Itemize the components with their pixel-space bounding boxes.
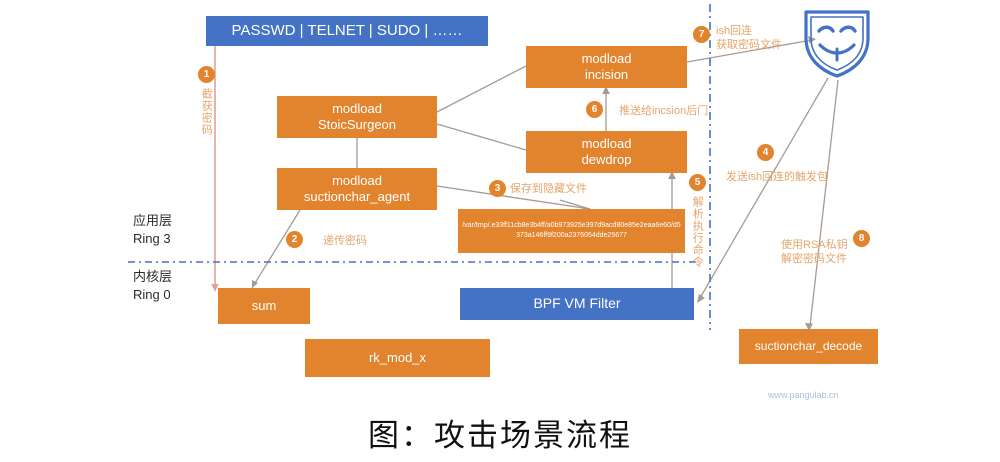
node-label: modload dewdrop: [526, 136, 687, 168]
node-hashfile: /var/tmp/.e33ff11cb8e3b4ff/a0b973925e397…: [458, 209, 685, 253]
node-label: modload StoicSurgeon: [277, 101, 437, 133]
step-marker-3: 3: [489, 180, 506, 197]
node-incision: modload incision: [526, 46, 687, 88]
node-label: PASSWD | TELNET | SUDO | ……: [206, 22, 488, 40]
layer-label-ring3: 应用层 Ring 3: [133, 212, 172, 247]
step-label-3: 保存到隐藏文件: [510, 182, 587, 196]
node-label: suctionchar_decode: [739, 339, 878, 354]
step-marker-5: 5: [689, 174, 706, 191]
step-label-1: 截获密码: [199, 88, 213, 136]
step-label-7: ish回连 获取密码文件: [716, 24, 782, 53]
node-rkmodx: rk_mod_x: [305, 339, 490, 377]
layer-label-ring0: 内核层 Ring 0: [133, 268, 172, 303]
node-label: BPF VM Filter: [460, 295, 694, 312]
node-passwd: PASSWD | TELNET | SUDO | ……: [206, 16, 488, 46]
node-label: sum: [218, 298, 310, 314]
node-label: modload suctionchar_agent: [277, 173, 437, 205]
step-label-6: 推送给incsion后门: [619, 104, 708, 118]
node-label: modload incision: [526, 51, 687, 83]
node-sum: sum: [218, 288, 310, 324]
node-label: /var/tmp/.e33ff11cb8e3b4ff/a0b973925e397…: [458, 221, 685, 241]
anonymous-mask-icon: [798, 4, 876, 78]
node-stoicsurgeon: modload StoicSurgeon: [277, 96, 437, 138]
step-label-8: 使用RSA私钥 解密密码文件: [781, 238, 848, 267]
step-label-5: 解析执行命令: [690, 196, 704, 268]
watermark: www.pangulab.cn: [768, 390, 839, 400]
step-marker-6: 6: [586, 101, 603, 118]
figure-caption: 图：攻击场景流程: [0, 410, 1000, 455]
node-label: rk_mod_x: [305, 350, 490, 366]
step-marker-1: 1: [198, 66, 215, 83]
step-label-4: 发送ish回连的触发包: [726, 170, 828, 184]
step-marker-2: 2: [286, 231, 303, 248]
node-decode: suctionchar_decode: [739, 329, 878, 364]
diagram-canvas: PASSWD | TELNET | SUDO | ……modload Stoic…: [0, 0, 1000, 462]
step-marker-8: 8: [853, 230, 870, 247]
node-dewdrop: modload dewdrop: [526, 131, 687, 173]
node-bpf: BPF VM Filter: [460, 288, 694, 320]
step-marker-4: 4: [757, 144, 774, 161]
node-suctionchar: modload suctionchar_agent: [277, 168, 437, 210]
step-marker-7: 7: [693, 26, 710, 43]
step-label-2: 递传密码: [323, 234, 367, 248]
